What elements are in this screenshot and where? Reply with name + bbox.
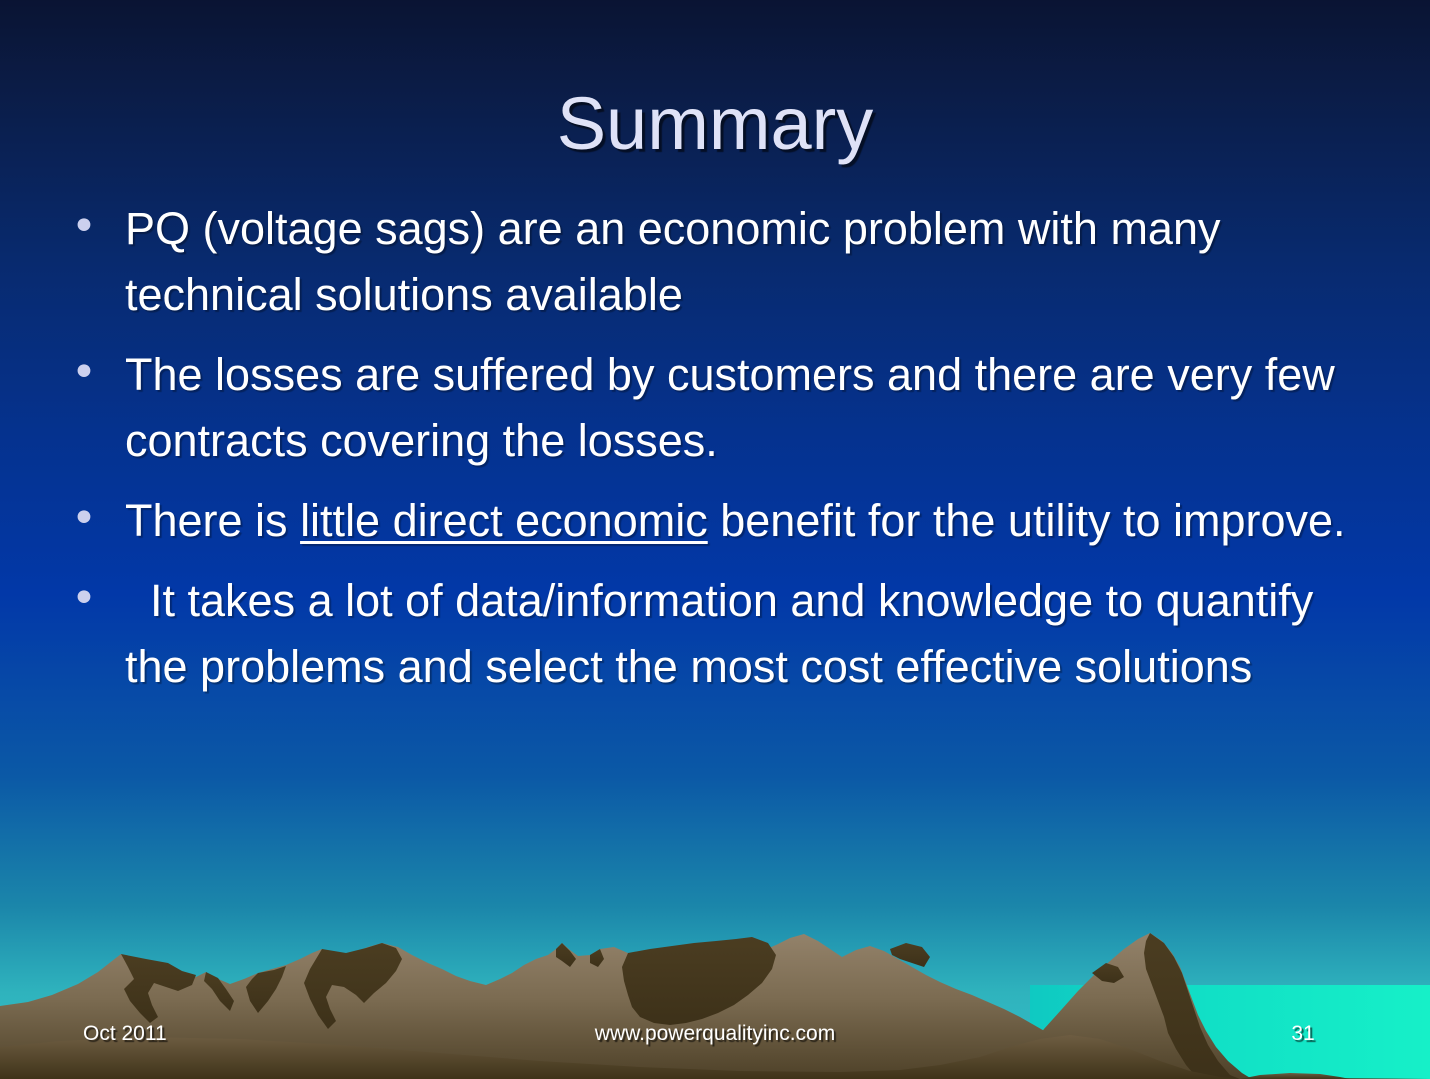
list-item: • The losses are suffered by customers a… <box>58 342 1378 474</box>
bullet-text: PQ (voltage sags) are an economic proble… <box>125 196 1378 328</box>
bullet-text-underlined: little direct economic <box>300 495 708 546</box>
bullet-list: • PQ (voltage sags) are an economic prob… <box>58 196 1378 714</box>
bullet-marker-icon: • <box>58 342 125 404</box>
bullet-text: The losses are suffered by customers and… <box>125 342 1378 474</box>
bullet-marker-icon: • <box>58 488 125 550</box>
slide-title: Summary <box>0 82 1430 166</box>
bullet-text-suffix: benefit for the utility to improve. <box>708 495 1346 546</box>
list-item: • PQ (voltage sags) are an economic prob… <box>58 196 1378 328</box>
bullet-marker-icon: • <box>58 196 125 258</box>
bullet-text-plain: PQ (voltage sags) are an economic proble… <box>125 203 1233 320</box>
footer-page-number: 31 <box>1250 1021 1356 1047</box>
footer-url: www.powerqualityinc.com <box>0 1021 1430 1047</box>
bullet-text: It takes a lot of data/information and k… <box>125 568 1378 700</box>
bullet-text-plain: It takes a lot of data/information and k… <box>125 575 1326 692</box>
bullet-text-plain: The losses are suffered by customers and… <box>125 349 1347 466</box>
list-item: • It takes a lot of data/information and… <box>58 568 1378 700</box>
bullet-text: There is little direct economic benefit … <box>125 488 1378 554</box>
slide: Summary • PQ (voltage sags) are an econo… <box>0 0 1430 1079</box>
list-item: • There is little direct economic benefi… <box>58 488 1378 554</box>
bullet-marker-icon: • <box>58 568 125 630</box>
mountain-range-graphic <box>0 929 1430 1079</box>
bullet-text-prefix: There is <box>125 495 300 546</box>
